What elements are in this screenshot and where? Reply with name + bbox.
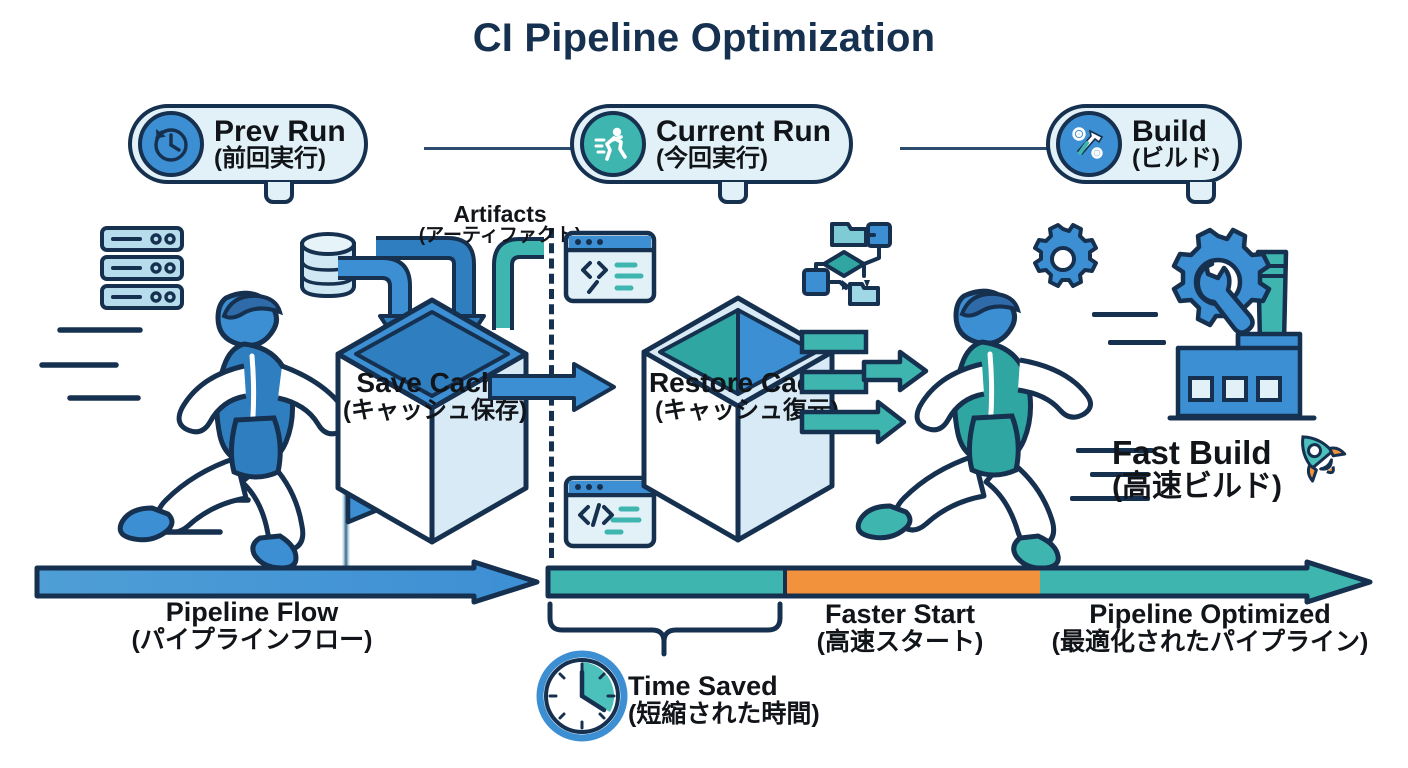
history-clock-icon bbox=[138, 111, 204, 177]
pipeline-flow-label: Pipeline Flow (パイプラインフロー) bbox=[92, 598, 412, 653]
time-saved-label-en: Time Saved bbox=[628, 672, 878, 701]
runner-right-icon bbox=[790, 268, 1120, 568]
time-saved-label: Time Saved (短縮された時間) bbox=[628, 672, 878, 727]
transfer-arrow bbox=[488, 362, 618, 412]
pipeline-optimized-label-en: Pipeline Optimized bbox=[1040, 600, 1380, 629]
stage-pill-current-run[interactable]: Current Run (今回実行) bbox=[570, 104, 853, 184]
hammer-gears-icon bbox=[1056, 111, 1122, 177]
stage-pill-build[interactable]: Build (ビルド) bbox=[1046, 104, 1242, 184]
page-title: CI Pipeline Optimization bbox=[0, 16, 1408, 61]
fast-build-label: Fast Build (高速ビルド) bbox=[1112, 436, 1348, 503]
pill-pointer-prev-run bbox=[264, 182, 294, 204]
infographic-canvas: CI Pipeline Optimization Prev Run (前回実行) bbox=[0, 0, 1408, 768]
pill-pointer-build bbox=[1186, 182, 1216, 204]
faster-start-label-jp: (高速スタート) bbox=[782, 629, 1018, 656]
pipeline-optimized-label: Pipeline Optimized (最適化されたパイプライン) bbox=[1040, 600, 1380, 655]
gear-icon bbox=[1028, 224, 1098, 294]
timeline-arrow-right bbox=[545, 560, 1375, 604]
faster-start-label-en: Faster Start bbox=[782, 600, 1018, 629]
speed-line bbox=[1092, 312, 1158, 317]
fast-build-label-en: Fast Build bbox=[1112, 436, 1282, 471]
connector-current-build bbox=[900, 147, 1048, 150]
speed-line bbox=[1108, 340, 1166, 345]
rocket-icon bbox=[1290, 427, 1348, 485]
stage-label-jp: (今回実行) bbox=[656, 147, 831, 172]
time-saved-clock-icon bbox=[536, 650, 628, 742]
stage-label-en: Build bbox=[1132, 116, 1220, 147]
pipeline-flow-label-jp: (パイプラインフロー) bbox=[92, 627, 412, 654]
stage-label-jp: (前回実行) bbox=[214, 147, 346, 172]
stage-label-jp: (ビルド) bbox=[1132, 147, 1220, 172]
factory-gear-icon bbox=[1168, 230, 1388, 430]
artifacts-label-en: Artifacts bbox=[400, 202, 600, 226]
runner-left-icon bbox=[30, 270, 360, 570]
stage-pill-prev-run[interactable]: Prev Run (前回実行) bbox=[128, 104, 368, 184]
stage-label-en: Current Run bbox=[656, 116, 831, 147]
pipeline-optimized-label-jp: (最適化されたパイプライン) bbox=[1040, 629, 1380, 656]
fast-build-label-jp: (高速ビルド) bbox=[1112, 471, 1282, 503]
connector-prev-current bbox=[424, 147, 576, 150]
pill-pointer-current-run bbox=[718, 182, 748, 204]
runner-icon bbox=[580, 111, 646, 177]
stage-label-en: Prev Run bbox=[214, 116, 346, 147]
pipeline-flow-label-en: Pipeline Flow bbox=[92, 598, 412, 627]
time-saved-label-jp: (短縮された時間) bbox=[628, 701, 878, 728]
faster-start-label: Faster Start (高速スタート) bbox=[782, 600, 1018, 655]
